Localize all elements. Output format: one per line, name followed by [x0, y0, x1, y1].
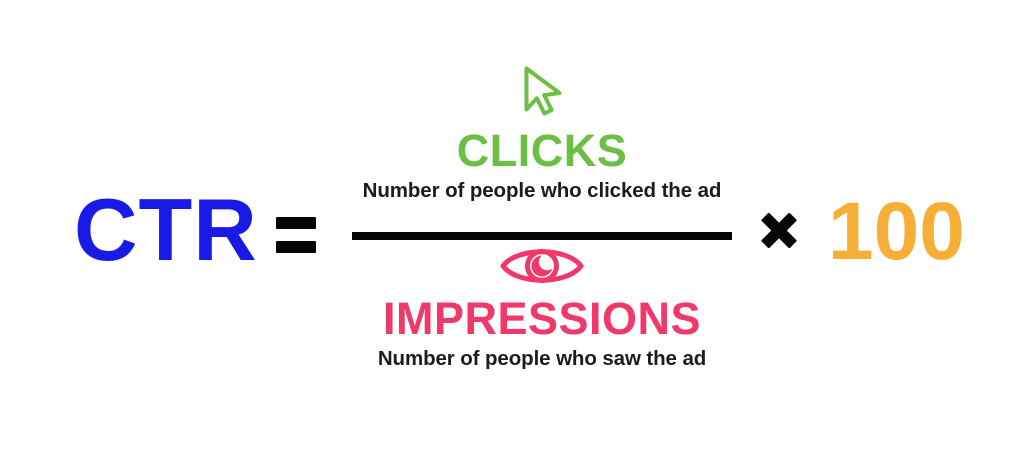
eye-icon — [350, 242, 734, 290]
ctr-formula-graphic: CTR CLICKS Number of people who clicked … — [0, 0, 1024, 471]
multiplier-value: 100 — [828, 191, 965, 273]
fraction-numerator: CLICKS Number of people who clicked the … — [350, 62, 734, 230]
equals-sign — [276, 198, 318, 268]
fraction-denominator: IMPRESSIONS Number of people who saw the… — [350, 242, 734, 388]
impressions-caption: Number of people who saw the ad — [350, 346, 734, 372]
equals-bar-top — [276, 217, 316, 229]
impressions-label: IMPRESSIONS — [350, 296, 734, 342]
cursor-arrow-icon — [350, 62, 734, 120]
clicks-label: CLICKS — [350, 128, 734, 174]
fraction-block: CLICKS Number of people who clicked the … — [350, 62, 734, 388]
multiplication-sign — [758, 208, 802, 258]
clicks-caption: Number of people who clicked the ad — [350, 178, 734, 204]
equals-bar-bottom — [276, 241, 316, 253]
fraction-bar — [352, 232, 732, 240]
ctr-label: CTR — [74, 186, 258, 274]
